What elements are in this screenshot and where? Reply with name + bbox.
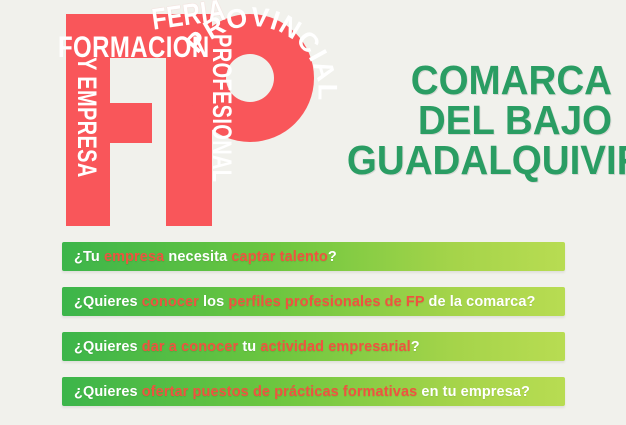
logo-word-provincial-path: PROVINCIAL: [180, 2, 343, 102]
question-bar[interactable]: ¿Quieres dar a conocer tu actividad empr…: [62, 332, 565, 361]
poster-canvas: FERIA FORMACION Y EMPRESA PROFESIONAL PR…: [0, 0, 626, 425]
question-bar[interactable]: ¿Quieres conocer los perfiles profesiona…: [62, 287, 565, 316]
logo-word-provincial-text: PROVINCIAL: [180, 2, 343, 102]
page-title-line-1: COMARCA: [347, 60, 612, 100]
question-bar[interactable]: ¿Tu empresa necesita captar talento?: [62, 242, 565, 271]
question-plain: de la comarca?: [424, 294, 535, 310]
question-highlight: perfiles profesionales de FP: [228, 294, 424, 310]
question-bar[interactable]: ¿Quieres ofertar puestos de prácticas fo…: [62, 377, 565, 406]
question-plain: necesita: [164, 249, 231, 265]
question-bar-text: ¿Quieres ofertar puestos de prácticas fo…: [74, 384, 530, 400]
logo-word-y-empresa: Y EMPRESA: [73, 57, 100, 178]
logo-word-provincial: PROVINCIAL: [188, 4, 338, 154]
question-plain: tu: [238, 339, 260, 355]
question-highlight: captar talento: [231, 249, 327, 265]
page-title: COMARCA DEL BAJO GUADALQUIVIR: [330, 60, 612, 181]
question-highlight: conocer: [142, 294, 199, 310]
question-plain: ¿Quieres: [74, 384, 142, 400]
question-highlight: dar a conocer: [142, 339, 238, 355]
question-plain: ¿Quieres: [74, 339, 142, 355]
question-bar-text: ¿Quieres dar a conocer tu actividad empr…: [74, 339, 420, 355]
question-plain: ?: [411, 339, 420, 355]
question-plain: ?: [328, 249, 337, 265]
question-bar-text: ¿Tu empresa necesita captar talento?: [74, 249, 337, 265]
question-plain: ¿Quieres: [74, 294, 142, 310]
question-highlight: empresa: [104, 249, 164, 265]
page-title-line-2: DEL BAJO: [347, 100, 612, 140]
question-highlight: actividad empresarial: [260, 339, 410, 355]
question-plain: en tu empresa?: [417, 384, 530, 400]
page-title-line-3: GUADALQUIVIR: [347, 140, 612, 180]
fp-logo: FERIA FORMACION Y EMPRESA PROFESIONAL PR…: [0, 0, 340, 232]
question-bar-text: ¿Quieres conocer los perfiles profesiona…: [74, 294, 535, 310]
question-highlight: ofertar puestos de prácticas formativas: [142, 384, 417, 400]
question-plain: ¿Tu: [74, 249, 104, 265]
question-plain: los: [199, 294, 229, 310]
logo-letter-notch: [152, 58, 166, 103]
